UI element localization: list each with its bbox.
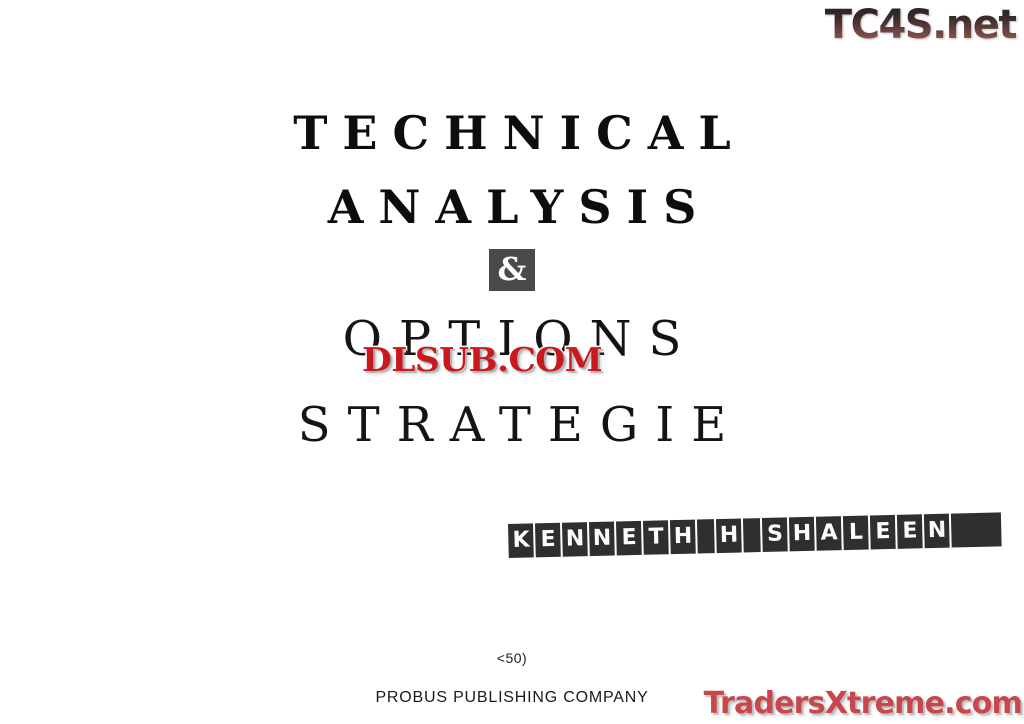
author-letter-tile: N xyxy=(562,522,588,557)
book-cover-page: TC4S.net TECHNICAL ANALYSIS & OPTIONS ST… xyxy=(0,0,1024,724)
author-letter-tile: A xyxy=(816,516,842,551)
ampersand-badge: & xyxy=(489,249,536,291)
author-letter-tile: S xyxy=(762,517,788,552)
title-line-strategie: STRATEGIE xyxy=(0,382,1024,468)
page-number-mark: <50) xyxy=(0,650,1024,666)
author-letter-tile: T xyxy=(643,520,669,555)
author-letter-tile: E xyxy=(616,521,642,556)
title-line-technical: TECHNICAL xyxy=(0,96,1024,170)
author-letter-tile: E xyxy=(870,515,896,550)
title-line-analysis: ANALYSIS xyxy=(0,170,1024,244)
author-letter-tile: E xyxy=(535,523,561,558)
author-letter-tile: H xyxy=(789,517,815,552)
author-letter-tile: E xyxy=(897,514,923,549)
author-letter-tile: L xyxy=(843,516,869,551)
author-letter-tile xyxy=(743,518,761,552)
author-letter-tile xyxy=(951,512,1002,547)
tradersxtreme-watermark: TradersXtreme.com xyxy=(704,686,1022,722)
author-letter-tile: N xyxy=(924,514,950,549)
cover-title-block: TECHNICAL ANALYSIS & OPTIONS STRATEGIE xyxy=(0,96,1024,468)
tc4s-site-logo: TC4S.net xyxy=(825,2,1016,48)
author-name-strip: KENNETH H SHALEEN xyxy=(508,512,1004,558)
dlsub-watermark: DLSUB.COM xyxy=(362,341,602,379)
author-letter-tile: H xyxy=(716,519,742,554)
author-letter-tile xyxy=(697,519,715,553)
ampersand-row: & xyxy=(0,244,1024,296)
author-letter-tile: K xyxy=(508,523,534,558)
author-letter-tile: N xyxy=(589,522,615,557)
author-letter-tile: H xyxy=(670,520,696,555)
